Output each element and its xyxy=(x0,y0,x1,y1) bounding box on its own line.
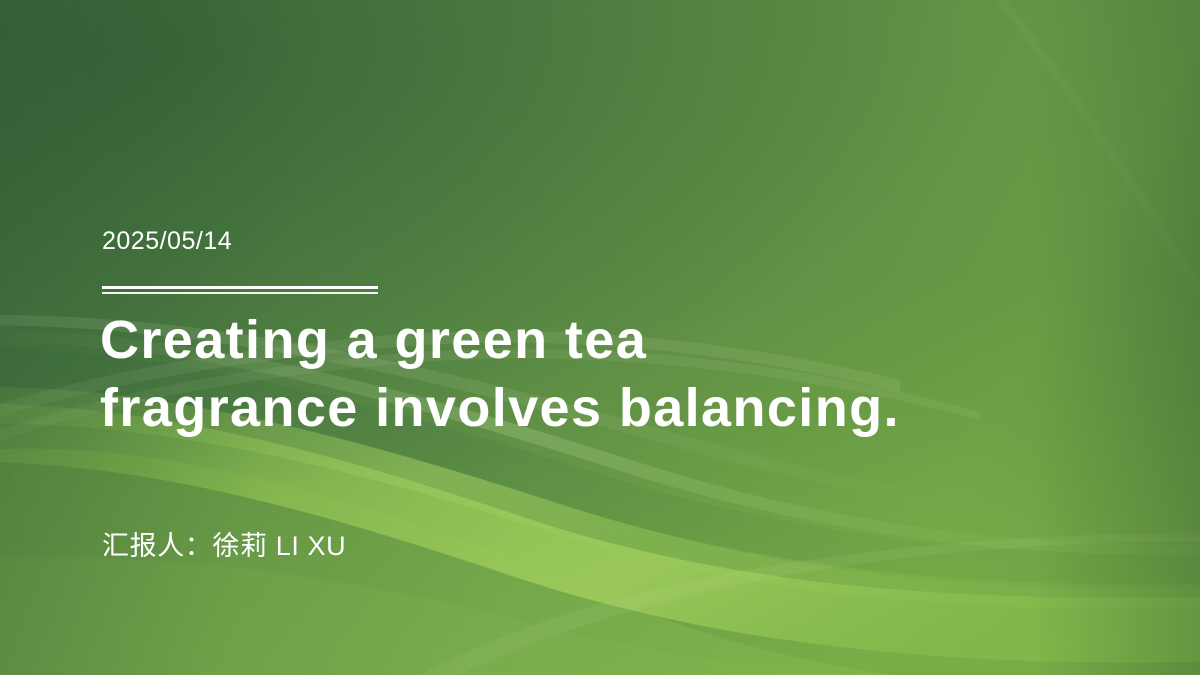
page-title-line-1: Creating a green tea xyxy=(100,306,1090,374)
page-title-line-2: fragrance involves balancing. xyxy=(100,374,1090,442)
presenter-label: 汇报人：徐莉 LI XU xyxy=(102,530,346,562)
divider-line-thin xyxy=(102,292,378,294)
slide-content: 2025/05/14 Creating a green tea fragranc… xyxy=(102,0,1102,675)
page-title: Creating a green tea fragrance involves … xyxy=(100,306,1090,442)
title-divider xyxy=(102,286,378,294)
slide-date: 2025/05/14 xyxy=(102,229,232,254)
title-slide: 2025/05/14 Creating a green tea fragranc… xyxy=(0,0,1200,675)
